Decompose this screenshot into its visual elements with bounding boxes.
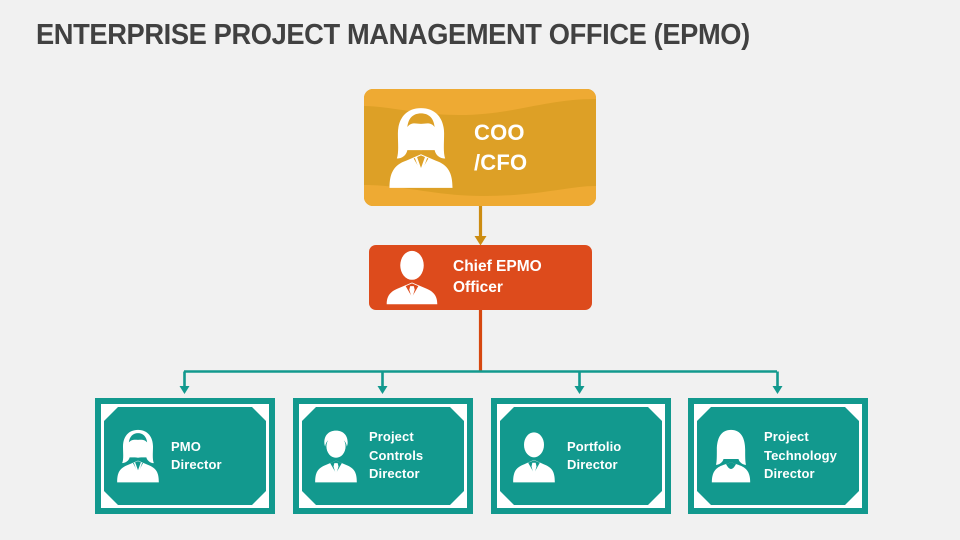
org-node-label: Project Controls Director xyxy=(369,428,423,483)
org-node-label: Chief EPMO Officer xyxy=(453,257,542,298)
org-node-label: Project Technology Director xyxy=(764,428,837,483)
org-node-label: Portfolio Director xyxy=(567,438,621,475)
org-node-pmo-director[interactable]: PMO Director xyxy=(95,398,275,514)
org-node-chief-epmo-officer[interactable]: Chief EPMO Officer xyxy=(369,245,592,310)
org-node-project-technology-director[interactable]: Project Technology Director xyxy=(688,398,868,514)
female-longhair-icon xyxy=(703,424,759,488)
node-octagon-body: Project Controls Director xyxy=(302,407,464,505)
org-node-portfolio-director[interactable]: Portfolio Director xyxy=(491,398,671,514)
org-node-project-controls-director[interactable]: Project Controls Director xyxy=(293,398,473,514)
node-white-frame: PMO Director xyxy=(101,404,269,508)
slide-canvas: ENTERPRISE PROJECT MANAGEMENT OFFICE (EP… xyxy=(0,0,960,540)
org-node-label: PMO Director xyxy=(171,438,222,475)
male-professional-icon xyxy=(308,424,364,488)
male-executive-bald-icon xyxy=(506,424,562,488)
org-node-coo-cfo[interactable]: COO /CFO xyxy=(364,89,596,206)
node-octagon-body: Project Technology Director xyxy=(697,407,859,505)
female-professional-icon xyxy=(110,424,166,488)
female-executive-icon xyxy=(378,102,464,194)
node-octagon-body: Portfolio Director xyxy=(500,407,662,505)
male-executive-icon xyxy=(379,250,445,306)
node-octagon-body: PMO Director xyxy=(104,407,266,505)
org-node-label: COO /CFO xyxy=(474,118,527,176)
node-white-frame: Project Technology Director xyxy=(694,404,862,508)
node-white-frame: Portfolio Director xyxy=(497,404,665,508)
node-white-frame: Project Controls Director xyxy=(299,404,467,508)
